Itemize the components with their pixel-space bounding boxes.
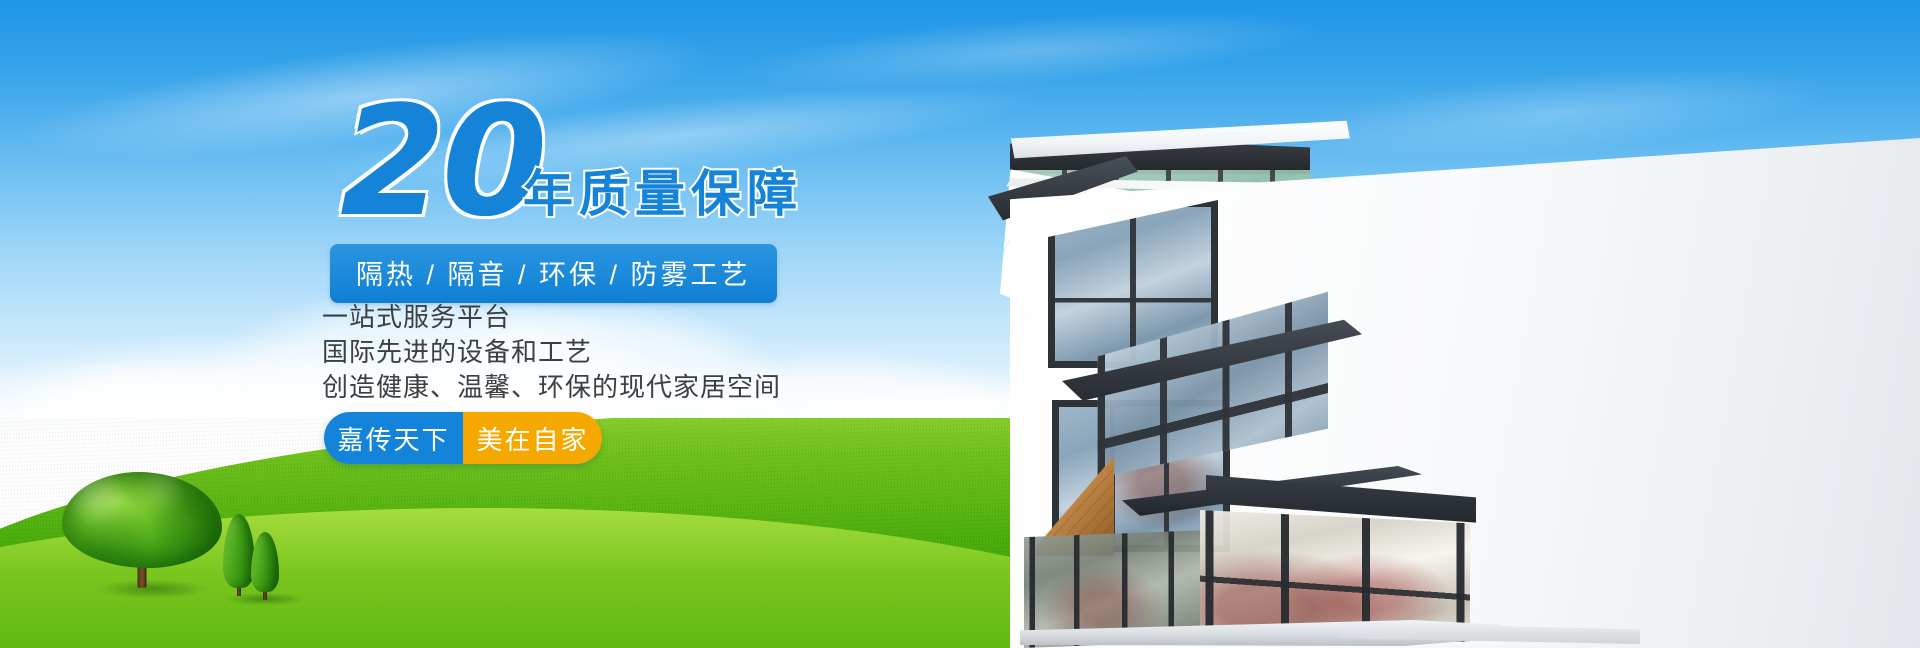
features-pill: 隔热 / 隔音 / 环保 / 防雾工艺	[330, 244, 777, 303]
description-line: 国际先进的设备和工艺	[322, 335, 781, 370]
tree-crown	[62, 472, 222, 568]
years-number: 20	[340, 86, 544, 238]
banner-content: 20 年质量保障 隔热 / 隔音 / 环保 / 防雾工艺 一站式服务平台 国际先…	[318, 92, 958, 232]
glass-sunroom-house-image	[1010, 138, 1920, 648]
promo-banner: 20 年质量保障 隔热 / 隔音 / 环保 / 防雾工艺 一站式服务平台 国际先…	[0, 0, 1920, 648]
description-line: 一站式服务平台	[322, 300, 781, 335]
cypress-tree-icon	[250, 530, 280, 600]
cta-button-group[interactable]: 嘉传天下 美在自家	[324, 412, 602, 464]
quality-slogan: 年质量保障	[523, 154, 803, 226]
description-lines: 一站式服务平台 国际先进的设备和工艺 创造健康、温馨、环保的现代家居空间	[322, 300, 781, 405]
cta-left-button[interactable]: 嘉传天下	[324, 412, 463, 464]
cta-right-button[interactable]: 美在自家	[463, 412, 602, 464]
cypress-foliage	[251, 532, 279, 592]
broadleaf-tree-icon	[62, 468, 222, 588]
description-line: 创造健康、温馨、环保的现代家居空间	[322, 370, 781, 405]
features-pill-text: 隔热 / 隔音 / 环保 / 防雾工艺	[356, 253, 751, 292]
headline-group: 20 年质量保障	[318, 92, 958, 232]
